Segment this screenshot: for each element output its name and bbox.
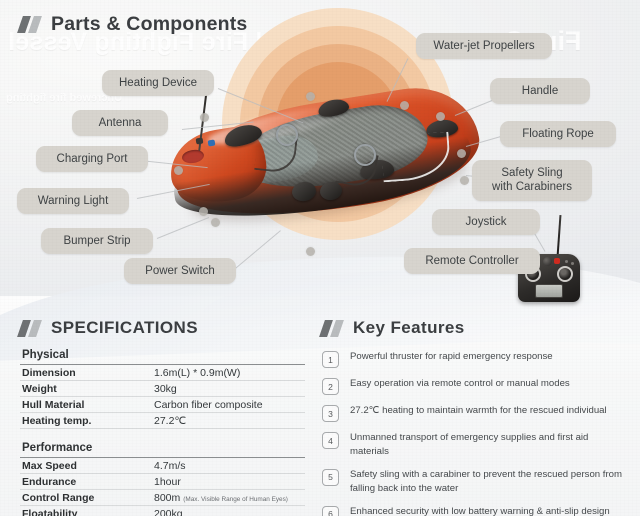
spec-key: Hull Material <box>22 399 154 411</box>
callout-antenna[interactable]: Antenna <box>72 110 168 136</box>
table-row: Dimension 1.6m(L) * 0.9m(W) <box>20 365 305 381</box>
carabiner-icon-1 <box>276 124 298 146</box>
callout-charging-port[interactable]: Charging Port <box>36 146 148 172</box>
callout-joystick[interactable]: Joystick <box>432 209 540 235</box>
callout-remote-controller[interactable]: Remote Controller <box>404 248 540 274</box>
callout-power-switch[interactable]: Power Switch <box>124 258 236 284</box>
remote-dot-3 <box>565 260 568 263</box>
list-item: 5 Safety sling with a carabiner to preve… <box>322 468 622 496</box>
anchor-dot-heating-device <box>306 92 315 101</box>
anchor-dot-power-switch <box>306 247 315 256</box>
spec-key: Floatability <box>22 508 154 516</box>
callout-warning-light[interactable]: Warning Light <box>17 188 129 214</box>
spec-key: Endurance <box>22 476 154 488</box>
list-item: 4 Unmanned transport of emergency suppli… <box>322 431 622 459</box>
list-item: 2 Easy operation via remote control or m… <box>322 377 622 395</box>
table-row: Endurance 1hour <box>20 474 305 490</box>
specifications-table: Physical Dimension 1.6m(L) * 0.9m(W) Wei… <box>20 347 305 516</box>
table-row: Hull Material Carbon fiber composite <box>20 397 305 413</box>
list-item: 1 Powerful thruster for rapid emergency … <box>322 350 622 368</box>
callout-safety-sling[interactable]: Safety Sling with Carabiners <box>472 160 592 201</box>
spec-value-main: 800m <box>154 492 180 504</box>
table-row: Max Speed 4.7m/s <box>20 458 305 474</box>
specifications-heading-label: SPECIFICATIONS <box>51 318 198 338</box>
callout-bumper-strip[interactable]: Bumper Strip <box>41 228 153 254</box>
anchor-dot-floating-rope <box>457 149 466 158</box>
spec-value-note: (Max. Visible Range of Human Eyes) <box>183 496 288 503</box>
feature-number-badge: 6 <box>322 506 339 516</box>
spec-key: Max Speed <box>22 460 154 472</box>
callout-floating-rope[interactable]: Floating Rope <box>500 121 616 147</box>
spec-value: 1hour <box>154 476 305 488</box>
parts-components-heading-label: Parts & Components <box>51 13 247 36</box>
key-features-heading-label: Key Features <box>353 318 465 338</box>
spec-key: Dimension <box>22 367 154 379</box>
table-row: Heating temp. 27.2℃ <box>20 413 305 429</box>
remote-power-button-icon <box>554 258 560 264</box>
callout-heating-device[interactable]: Heating Device <box>102 70 214 96</box>
spec-value: 30kg <box>154 383 305 395</box>
callout-water-jet-propellers[interactable]: Water-jet Propellers <box>416 33 552 59</box>
key-features-heading: Key Features <box>322 318 465 338</box>
anchor-dot-charging-port <box>174 166 183 175</box>
spec-value: 800m(Max. Visible Range of Human Eyes) <box>154 492 305 504</box>
anchor-dot-water-jet <box>400 101 409 110</box>
carabiner-icon-2 <box>354 144 376 166</box>
spec-value: 1.6m(L) * 0.9m(W) <box>154 367 305 379</box>
warning-light <box>208 139 216 146</box>
remote-knob-icon <box>543 257 552 266</box>
spec-key: Weight <box>22 383 154 395</box>
slash-bars-icon <box>20 320 42 337</box>
remote-dot-4 <box>571 262 574 265</box>
anchor-dot-bumper-strip <box>211 218 220 227</box>
feature-number-badge: 2 <box>322 378 339 395</box>
spec-key: Control Range <box>22 492 154 504</box>
spec-group-title: Performance <box>20 440 305 458</box>
feature-text: Easy operation via remote control or man… <box>350 377 570 391</box>
feature-text: 27.2℃ heating to maintain warmth for the… <box>350 404 607 418</box>
feature-text: Safety sling with a carabiner to prevent… <box>350 468 622 496</box>
specifications-heading: SPECIFICATIONS <box>20 318 198 338</box>
spec-value: 4.7m/s <box>154 460 305 472</box>
joystick-right <box>557 266 573 282</box>
anchor-dot-antenna <box>200 113 209 122</box>
feature-text: Powerful thruster for rapid emergency re… <box>350 350 553 364</box>
feature-text: Unmanned transport of emergency supplies… <box>350 431 622 459</box>
brochure-page: Uncrewed Fire Fighting Vessel Fire C Unc… <box>0 0 640 516</box>
power-switch <box>196 137 204 144</box>
parts-components-heading: Parts & Components <box>20 13 247 36</box>
list-item: 3 27.2℃ heating to maintain warmth for t… <box>322 404 622 422</box>
spec-value: 200kg <box>154 508 305 516</box>
anchor-dot-safety-sling <box>460 176 469 185</box>
table-row: Floatability 200kg <box>20 506 305 516</box>
feature-text: Enhanced security with low battery warni… <box>350 505 610 516</box>
table-row: Weight 30kg <box>20 381 305 397</box>
anchor-dot-handle <box>436 112 445 121</box>
slash-bars-icon <box>322 320 344 337</box>
remote-lcd-screen <box>535 284 563 298</box>
feature-number-badge: 3 <box>322 405 339 422</box>
spec-value: Carbon fiber composite <box>154 399 305 411</box>
anchor-dot-warning-light <box>199 207 208 216</box>
feature-number-badge: 1 <box>322 351 339 368</box>
list-item: 6 Enhanced security with low battery war… <box>322 505 622 516</box>
spec-value: 27.2℃ <box>154 415 305 427</box>
key-features-list: 1 Powerful thruster for rapid emergency … <box>322 350 622 516</box>
feature-number-badge: 4 <box>322 432 339 449</box>
table-row: Control Range 800m(Max. Visible Range of… <box>20 490 305 506</box>
slash-bars-icon <box>20 16 42 33</box>
spec-key: Heating temp. <box>22 415 154 427</box>
feature-number-badge: 5 <box>322 469 339 486</box>
callout-handle[interactable]: Handle <box>490 78 590 104</box>
spec-group-title: Physical <box>20 347 305 365</box>
